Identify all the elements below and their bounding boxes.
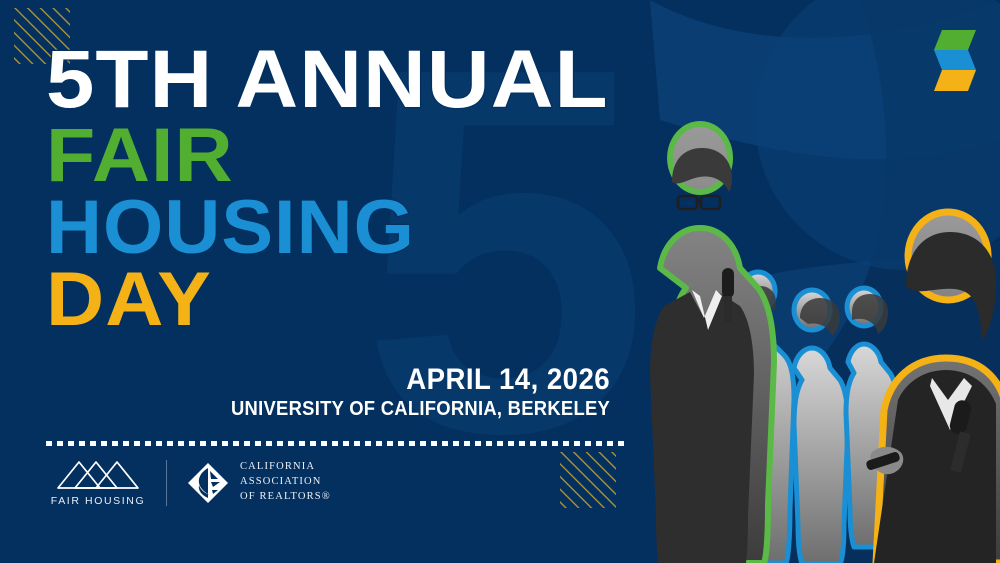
fair-housing-logo: FAIR HOUSING <box>46 458 150 507</box>
event-date: APRIL 14, 2026 <box>231 364 610 396</box>
car-text-line1: CALIFORNIA <box>240 460 331 475</box>
headline-line-day: DAY <box>46 265 724 335</box>
car-logo-text: CALIFORNIA ASSOCIATION OF REALTORS® <box>240 460 331 505</box>
headline-line-fair: FAIR <box>46 121 724 191</box>
headline-block: 5TH ANNUAL FAIR HOUSING DAY <box>46 42 686 335</box>
three-peaks-roof-icon <box>55 458 141 490</box>
dashed-divider <box>46 441 626 446</box>
fair-housing-label: FAIR HOUSING <box>51 495 145 507</box>
fair-housing-day-poster: 5 <box>0 0 1000 563</box>
car-chevron-stack-icon <box>932 28 980 94</box>
headline-line-housing: HOUSING <box>46 193 699 263</box>
event-details: APRIL 14, 2026 UNIVERSITY OF CALIFORNIA,… <box>198 364 610 420</box>
car-text-line2: ASSOCIATION <box>240 475 331 490</box>
event-venue: UNIVERSITY OF CALIFORNIA, BERKELEY <box>231 399 610 420</box>
car-text-line3: OF REALTORS® <box>240 490 331 505</box>
california-association-of-realtors-logo: CALIFORNIA ASSOCIATION OF REALTORS® <box>187 460 331 505</box>
car-diamond-icon <box>187 462 229 504</box>
logo-row: FAIR HOUSING CALIFORNIA ASSOCIATION OF R… <box>46 458 331 507</box>
headline-line-annual: 5TH ANNUAL <box>46 42 724 117</box>
logo-separator <box>166 460 167 506</box>
